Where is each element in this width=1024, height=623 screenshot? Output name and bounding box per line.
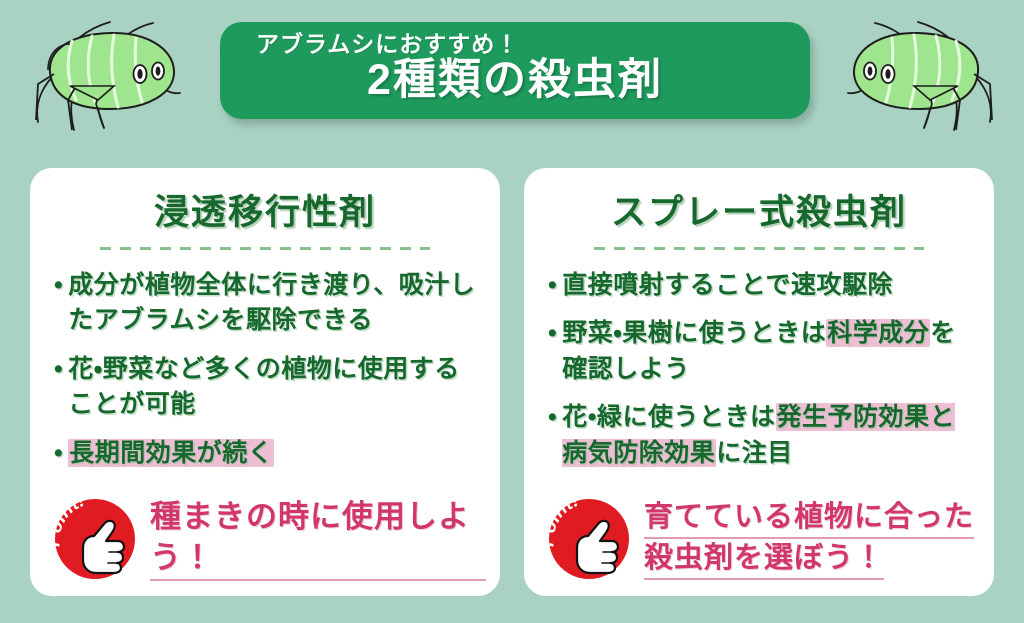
point-row: Point! 育てている植物に合った 殺虫剤を選ぼう！ [546, 496, 980, 582]
point-row: Point! 種まきの時に使用しよう！ [52, 496, 486, 582]
bullet-marker: • [548, 400, 557, 436]
list-item: • 成分が植物全体に行き渡り、吸汁したアブラムシを駆除できる [54, 268, 476, 339]
bullet-marker: • [548, 268, 557, 304]
point-badge-icon: Point! [546, 496, 632, 582]
point-badge-icon: Point! [52, 496, 138, 582]
bullet-text: 長期間効果が続く [68, 436, 476, 472]
card-systemic-insecticide: 浸透移行性剤 • 成分が植物全体に行き渡り、吸汁したアブラムシを駆除できる • … [30, 168, 500, 596]
bullet-marker: • [548, 316, 557, 352]
list-item: • 直接噴射することで速攻駆除 [548, 268, 970, 304]
point-text: 種まきの時に使用しよう！ [150, 497, 486, 582]
list-item: • 長期間効果が続く [54, 436, 476, 472]
list-item: • 野菜・果樹に使うときは科学成分を確認しよう [548, 316, 970, 387]
bullet-text: 花•緑に使うときは発生予防効果と病気防除効果に注目 [562, 400, 970, 471]
bullet-text: 花・野菜など多くの植物に使用することが可能 [68, 352, 476, 423]
point-line: 育てている植物に合った [644, 498, 974, 539]
point-line: 殺虫剤を選ぼう！ [644, 539, 884, 580]
banner-subtitle: アブラムシにおすすめ！ [220, 30, 810, 59]
header-banner: アブラムシにおすすめ！ 2種類の殺虫剤 [220, 22, 810, 119]
aphid-bug-illustration-left [18, 14, 208, 144]
dashed-divider [594, 247, 924, 250]
list-item: • 花•緑に使うときは発生予防効果と病気防除効果に注目 [548, 400, 970, 471]
bullet-text: 成分が植物全体に行き渡り、吸汁したアブラムシを駆除できる [68, 268, 476, 339]
card-title: 浸透移行性剤 [48, 194, 482, 233]
bullet-marker: • [54, 436, 63, 472]
banner-title: 2種類の殺虫剤 [220, 57, 810, 103]
card-title: スプレー式殺虫剤 [542, 194, 976, 233]
bullet-list: • 成分が植物全体に行き渡り、吸汁したアブラムシを駆除できる • 花・野菜など多… [48, 268, 482, 472]
bullet-marker: • [54, 352, 63, 388]
cards-container: 浸透移行性剤 • 成分が植物全体に行き渡り、吸汁したアブラムシを駆除できる • … [0, 160, 1024, 600]
bullet-list: • 直接噴射することで速攻駆除 • 野菜・果樹に使うときは科学成分を確認しよう … [542, 268, 976, 472]
bullet-marker: • [54, 268, 63, 304]
highlighted-text: 科学成分 [826, 319, 930, 347]
dashed-divider [100, 247, 430, 250]
highlighted-text: 長期間効果が続く [68, 439, 274, 467]
bullet-text: 直接噴射することで速攻駆除 [562, 268, 970, 304]
card-spray-insecticide: スプレー式殺虫剤 • 直接噴射することで速攻駆除 • 野菜・果樹に使うときは科学… [524, 168, 994, 596]
point-line: 種まきの時に使用しよう！ [150, 497, 486, 582]
bullet-text: 野菜・果樹に使うときは科学成分を確認しよう [562, 316, 970, 387]
point-text: 育てている植物に合った 殺虫剤を選ぼう！ [644, 498, 974, 581]
aphid-bug-illustration-right [820, 14, 1010, 144]
header: アブラムシにおすすめ！ 2種類の殺虫剤 [0, 0, 1024, 152]
list-item: • 花・野菜など多くの植物に使用することが可能 [54, 352, 476, 423]
